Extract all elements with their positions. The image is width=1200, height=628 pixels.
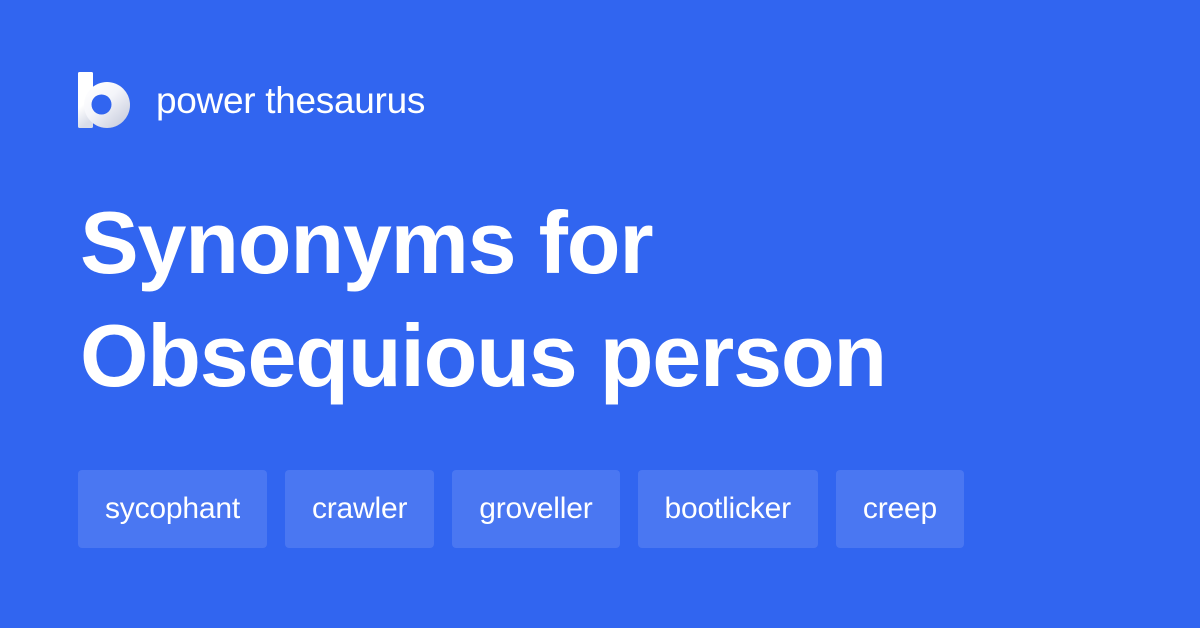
synonym-chip-list: sycophant crawler groveller bootlicker c… (78, 470, 964, 548)
synonym-chip[interactable]: groveller (452, 470, 619, 548)
page-title: Synonyms for Obsequious person (80, 186, 1125, 412)
synonym-chip[interactable]: creep (836, 470, 964, 548)
brand-lockup[interactable]: power thesaurus (78, 72, 425, 128)
share-card: power thesaurus Synonyms for Obsequious … (0, 0, 1200, 628)
synonym-chip[interactable]: crawler (285, 470, 434, 548)
brand-name: power thesaurus (156, 82, 425, 119)
synonym-chip[interactable]: bootlicker (638, 470, 818, 548)
synonym-chip[interactable]: sycophant (78, 470, 267, 548)
power-thesaurus-b-logo-icon (78, 72, 130, 128)
